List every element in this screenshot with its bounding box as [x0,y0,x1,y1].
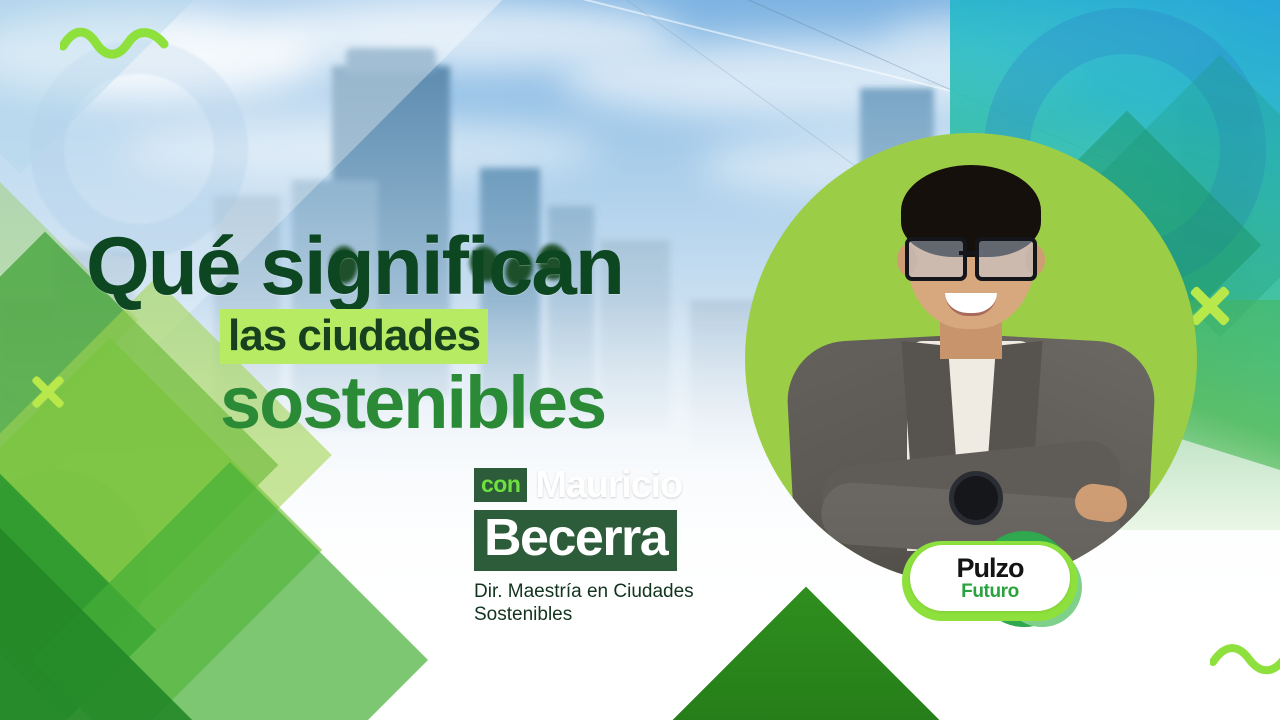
with-label: con [474,468,527,502]
headline-line-2-wrap: las ciudades [86,309,786,364]
speaker-role: Dir. Maestría en Ciudades Sostenibles [474,580,754,626]
portrait-circle-background [745,133,1197,585]
headline-line-2: las ciudades [220,309,488,364]
speaker-last-name: Becerra [474,510,677,571]
speaker-name-row: con Mauricio [474,466,774,504]
speaker-portrait [745,133,1197,585]
headline-line-1: Qué significan [86,228,786,307]
logo-main-text: Pulzo [957,555,1024,582]
video-thumbnail: Qué significan las ciudades sostenibles [0,0,1280,720]
wave-squiggle-icon [60,26,170,60]
lens-left [905,237,967,281]
eyeglasses-icon [905,237,1037,275]
speaker-first-name: Mauricio [535,466,682,504]
headline-block: Qué significan las ciudades sostenibles [86,228,786,440]
wave-squiggle-icon [1210,640,1280,676]
logo-sub-text: Futuro [961,582,1019,602]
lens-right [975,237,1037,281]
speaker-info-block: con Mauricio Becerra Dir. Maestría en Ci… [474,466,774,626]
pulzo-futuro-logo[interactable]: Pulzo Futuro [898,531,1102,627]
headline-line-3: sostenibles [86,366,786,440]
logo-pill: Pulzo Futuro [910,545,1070,611]
